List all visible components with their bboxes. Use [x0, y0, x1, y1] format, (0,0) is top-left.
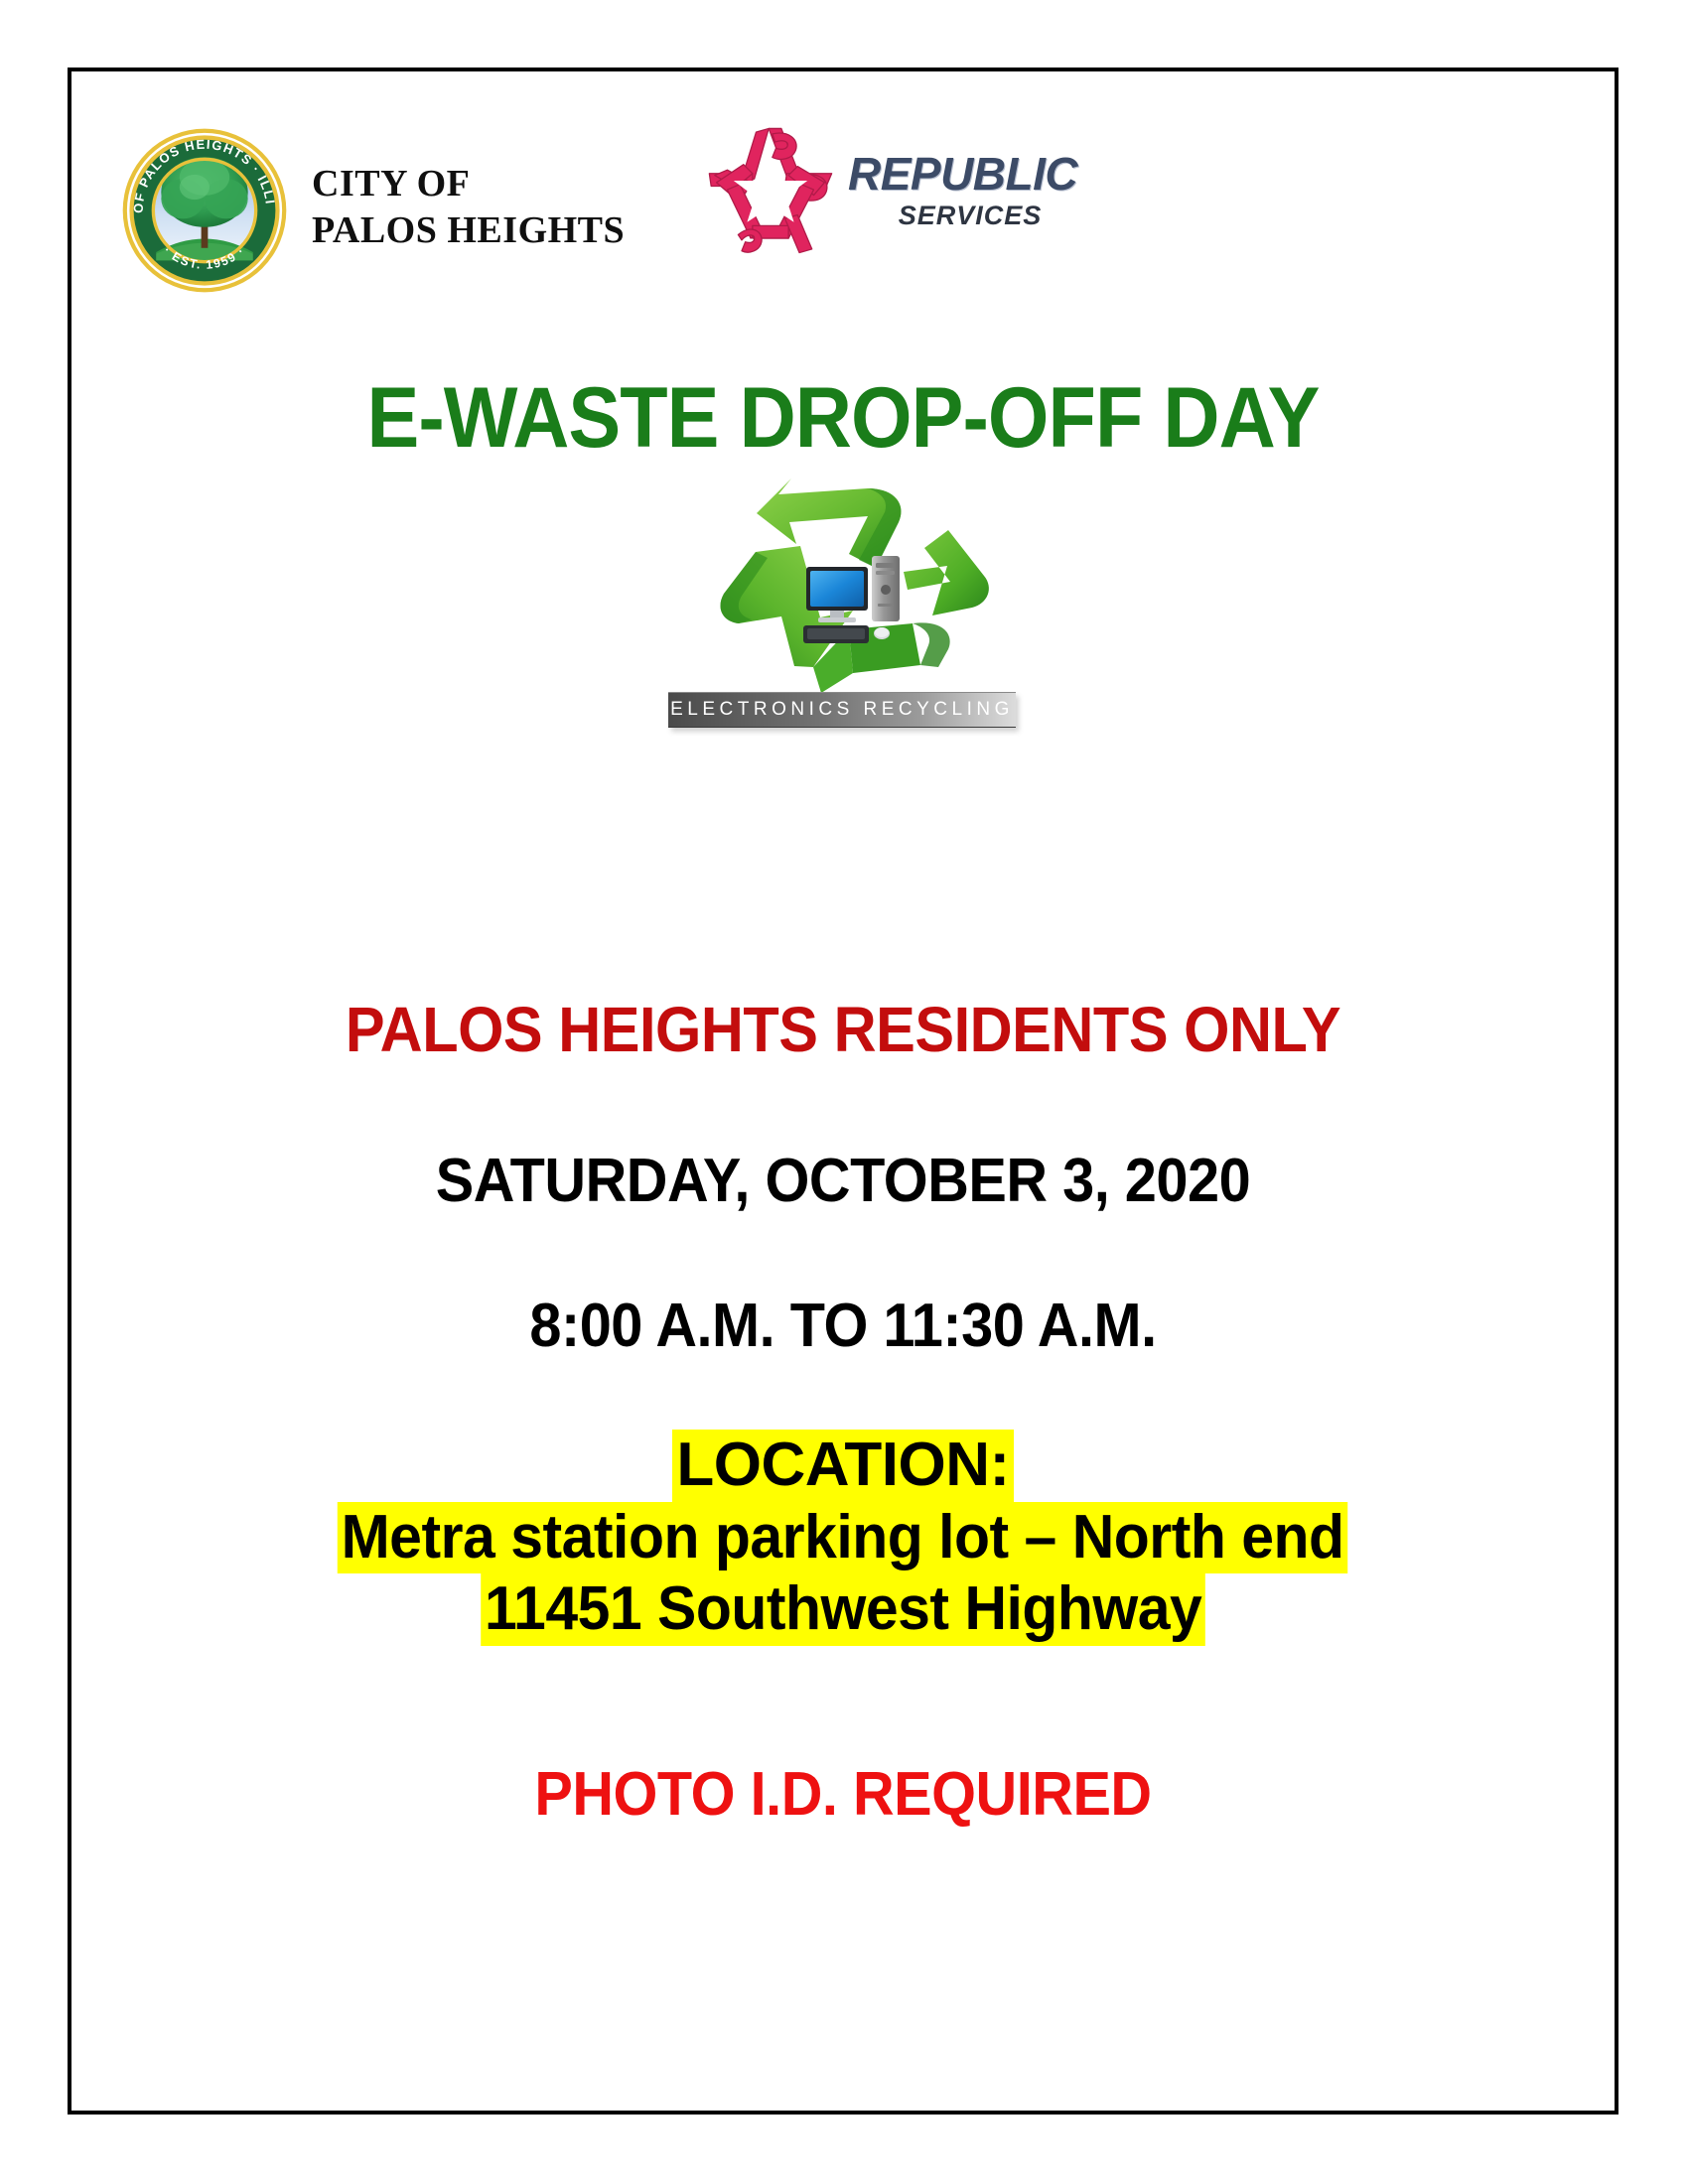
residents-only-line: PALOS HEIGHTS RESIDENTS ONLY — [125, 993, 1560, 1066]
event-date-line: SATURDAY, OCTOBER 3, 2020 — [125, 1146, 1560, 1216]
city-name-line1: CITY OF — [312, 161, 625, 207]
republic-services-logo: REPUBLIC SERVICES — [697, 123, 1094, 252]
location-line1: Metra station parking lot – North end — [338, 1502, 1348, 1574]
republic-main-word: REPUBLIC — [848, 151, 1096, 197]
banner-label: ELECTRONICS RECYCLING — [668, 693, 1016, 727]
republic-sub-word: SERVICES — [848, 203, 1096, 229]
location-label: LOCATION: — [672, 1430, 1013, 1502]
city-name-line2: PALOS HEIGHTS — [312, 207, 625, 254]
flyer-header: CITY OF PALOS HEIGHTS · ILLINOIS · · EST… — [71, 101, 1615, 300]
location-line2-row: 11451 Southwest Highway — [71, 1573, 1615, 1646]
city-seal-icon: CITY OF PALOS HEIGHTS · ILLINOIS · · EST… — [121, 127, 288, 294]
location-line2: 11451 Southwest Highway — [481, 1573, 1205, 1646]
location-line1-row: Metra station parking lot – North end — [71, 1502, 1615, 1574]
flyer-title: E-WASTE DROP-OFF DAY — [133, 369, 1553, 468]
republic-star-icon — [697, 123, 844, 258]
city-seal: CITY OF PALOS HEIGHTS · ILLINOIS · · EST… — [121, 127, 288, 294]
location-block: LOCATION: Metra station parking lot – No… — [71, 1430, 1615, 1646]
event-time-line: 8:00 A.M. TO 11:30 A.M. — [125, 1291, 1560, 1361]
republic-wordmark: REPUBLIC SERVICES — [848, 151, 1096, 229]
flyer-page: CITY OF PALOS HEIGHTS · ILLINOIS · · EST… — [0, 0, 1688, 2184]
location-label-row: LOCATION: — [71, 1430, 1615, 1502]
electronics-recycling-graphic: ELECTRONICS RECYCLING — [664, 469, 1022, 751]
city-name-block: CITY OF PALOS HEIGHTS — [312, 161, 625, 253]
recycle-arrows-icon — [664, 469, 1022, 712]
electronics-recycling-banner: ELECTRONICS RECYCLING — [668, 692, 1016, 728]
page-border-frame: CITY OF PALOS HEIGHTS · ILLINOIS · · EST… — [68, 68, 1618, 2115]
photo-id-required-line: PHOTO I.D. REQUIRED — [125, 1759, 1560, 1830]
